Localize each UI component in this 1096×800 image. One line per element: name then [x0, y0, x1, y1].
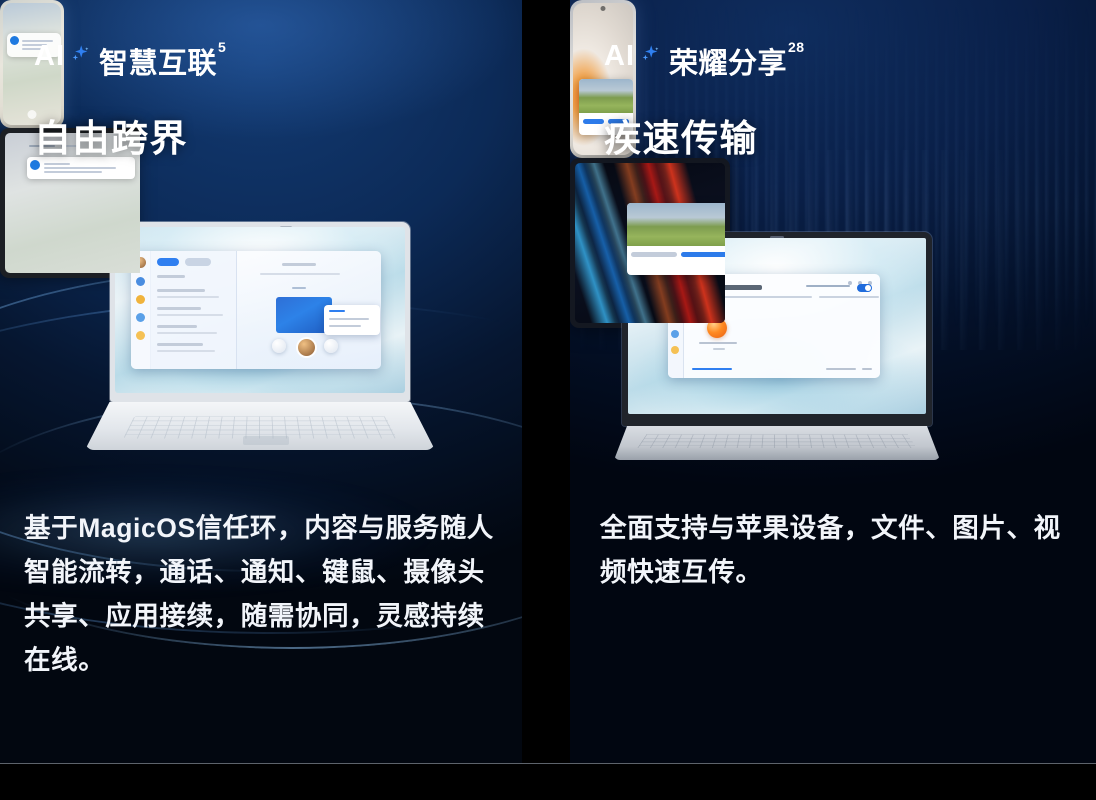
panel-caption-right: 全面支持与苹果设备，文件、图片、视频快速互传。: [600, 506, 1070, 594]
photo-preview: [627, 203, 725, 246]
text-placeholder: [44, 171, 102, 173]
panel-caption-left: 基于MagicOS信任环，内容与服务随人智能流转，通话、通知、键鼠、摄像头共享、…: [24, 506, 504, 682]
list-item-sub: [157, 296, 219, 298]
rail-icon: [136, 295, 145, 304]
rail-icon: [136, 331, 145, 340]
list-item[interactable]: [157, 343, 203, 346]
kicker-phrase: 荣耀分享: [669, 40, 787, 82]
app-sidebar: [150, 251, 237, 369]
device-description: [819, 296, 879, 298]
cancel-button: [631, 252, 677, 257]
footer-text: [826, 368, 856, 370]
rail-icon: [136, 277, 145, 286]
kicker-right: AI 荣耀分享28: [604, 40, 805, 82]
popover-line: [329, 318, 369, 320]
feature-panel-left: AI 智慧互联5 自由跨界: [0, 0, 522, 763]
list-item-sub: [157, 314, 223, 316]
camera-notch-icon: [601, 6, 606, 11]
pane-title: [282, 263, 316, 266]
bottom-divider: [0, 763, 1096, 764]
panel-title-left: 自由跨界: [34, 108, 226, 162]
popover-line: [329, 325, 361, 327]
device-node[interactable]: [272, 339, 286, 353]
rail-icon: [136, 313, 145, 322]
tab-inactive[interactable]: [185, 258, 211, 266]
contact-status: [713, 348, 725, 350]
kicker-left: AI 智慧互联5: [34, 40, 226, 82]
list-item[interactable]: [157, 307, 201, 310]
ai-label: AI: [34, 40, 65, 73]
cancel-button: [583, 119, 604, 124]
context-popover[interactable]: [324, 305, 380, 335]
feature-panel-right: AI 荣耀分享28 疾速传输: [570, 0, 1096, 763]
kicker-phrase: 智慧互联: [99, 40, 217, 82]
contact-name: [699, 342, 737, 344]
pane-divider: [292, 287, 306, 289]
list-item-sub: [157, 350, 215, 352]
text-placeholder: [44, 163, 70, 165]
text-placeholder: [44, 167, 116, 169]
sparkle-icon: [68, 42, 92, 66]
panel-heading-left: AI 智慧互联5 自由跨界: [34, 40, 226, 162]
list-item-sub: [157, 332, 217, 334]
tablet-device-right: [570, 158, 730, 328]
accept-button: [681, 252, 725, 257]
tab-active[interactable]: [157, 258, 179, 266]
photo-share-card[interactable]: [627, 203, 725, 275]
ai-label: AI: [604, 40, 635, 73]
kicker-superscript: 5: [218, 40, 226, 54]
card-actions[interactable]: [627, 252, 725, 260]
connectivity-app-window[interactable]: [131, 251, 381, 369]
rail-icon[interactable]: [671, 346, 679, 354]
footer-text: [862, 368, 872, 370]
keyboard: [637, 434, 916, 448]
tablet-screen: [575, 163, 725, 323]
list-item[interactable]: [157, 289, 205, 292]
kicker-superscript: 28: [788, 40, 805, 54]
promo-banner: AI 智慧互联5 自由跨界: [0, 0, 1096, 800]
popover-title: [329, 310, 345, 312]
panel-title-right: 疾速传输: [604, 108, 805, 162]
section-label: [157, 275, 185, 278]
sparkle-icon: [638, 42, 662, 66]
airdrop-toggle[interactable]: [857, 284, 872, 292]
app-icon: [10, 36, 19, 45]
pane-subtitle: [260, 273, 340, 275]
panel-heading-right: AI 荣耀分享28 疾速传输: [604, 40, 805, 162]
toggle-label: [806, 285, 850, 287]
center-avatar: [298, 339, 315, 356]
app-content-pane: [236, 251, 381, 369]
trackpad: [243, 436, 289, 445]
laptop-screen: [115, 227, 405, 393]
list-item[interactable]: [157, 325, 197, 328]
rail-icon[interactable]: [671, 330, 679, 338]
device-node[interactable]: [324, 339, 338, 353]
footer-link[interactable]: [692, 368, 732, 370]
